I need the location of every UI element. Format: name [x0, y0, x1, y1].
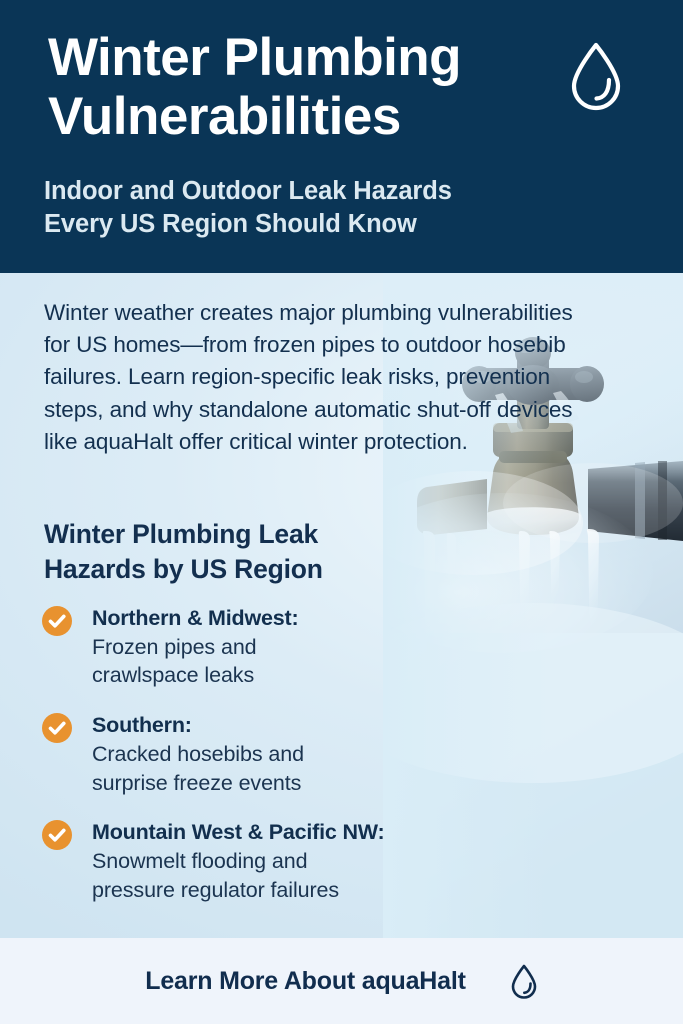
check-circle-icon: [42, 713, 72, 743]
footer-bar: Learn More About aquaHalt: [0, 938, 683, 1024]
check-circle-icon: [42, 606, 72, 636]
list-item: Mountain West & Pacific NW: Snowmelt flo…: [42, 819, 462, 904]
list-item-description: Cracked hosebibs and surprise freeze eve…: [92, 740, 462, 797]
page-title: Winter Plumbing Vulnerabilities: [48, 28, 568, 147]
infographic-poster: Winter Plumbing Vulnerabilities Indoor a…: [0, 0, 683, 1024]
list-item-description: Snowmelt flooding and pressure regulator…: [92, 847, 462, 904]
check-circle-icon: [42, 820, 72, 850]
header-banner: Winter Plumbing Vulnerabilities Indoor a…: [0, 0, 683, 273]
region-hazard-list: Northern & Midwest: Frozen pipes and cra…: [42, 605, 462, 926]
cta-button[interactable]: Learn More About aquaHalt: [0, 938, 683, 1024]
list-item-heading: Southern:: [92, 712, 462, 739]
page-subtitle: Indoor and Outdoor Leak Hazards Every US…: [44, 175, 624, 240]
section-heading: Winter Plumbing Leak Hazards by US Regio…: [44, 517, 424, 587]
water-drop-icon: [568, 40, 624, 112]
list-item-description: Frozen pipes and crawlspace leaks: [92, 633, 462, 690]
list-item-heading: Northern & Midwest:: [92, 605, 462, 632]
water-drop-icon: [510, 963, 538, 1000]
cta-label: Learn More About aquaHalt: [145, 967, 466, 996]
list-item: Southern: Cracked hosebibs and surprise …: [42, 712, 462, 797]
intro-paragraph: Winter weather creates major plumbing vu…: [44, 297, 574, 458]
list-item-heading: Mountain West & Pacific NW:: [92, 819, 462, 846]
list-item: Northern & Midwest: Frozen pipes and cra…: [42, 605, 462, 690]
